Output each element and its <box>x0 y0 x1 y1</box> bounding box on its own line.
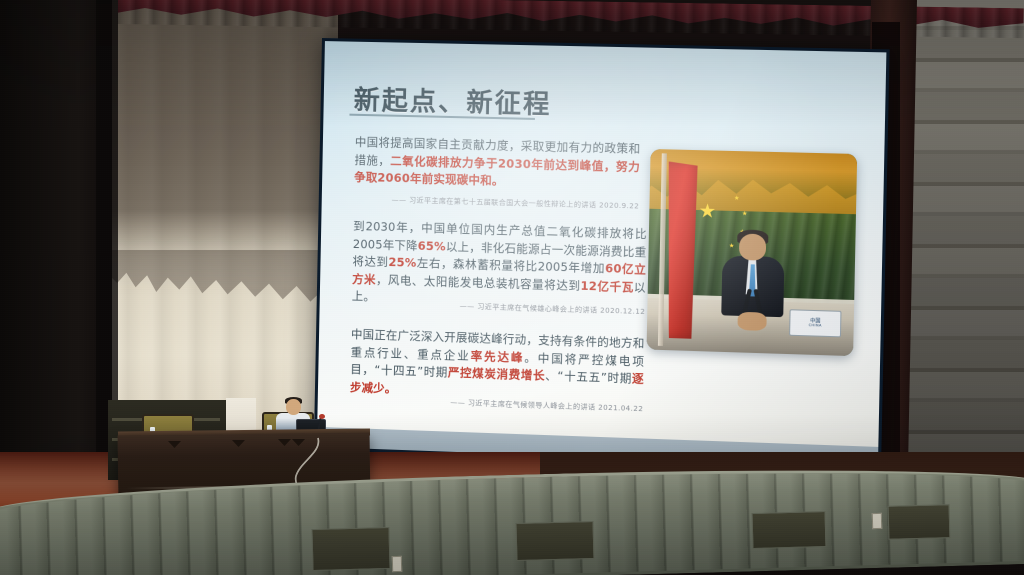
slide-paragraph-1: 中国将提高国家自主贡献力度，采取更加有力的政策和措施，二氧化碳排放力争于2030… <box>354 134 641 194</box>
flag-star-1: ★ <box>734 195 740 201</box>
slide-highlighted-text: 25% <box>388 255 416 270</box>
slide-photo: ★ ★ ★ ★ ★ 中国 CHINA <box>647 149 858 356</box>
slide-highlighted-text: 65% <box>418 238 446 253</box>
barrier-switch-plate-2 <box>872 513 882 529</box>
backdrop-upper-shadow <box>108 0 338 300</box>
microphone-head <box>319 414 325 419</box>
flag-star-4: ★ <box>729 243 735 249</box>
nameplate-label-en: CHINA <box>809 324 822 328</box>
slide-body-text: 左右，森林蓄积量将比2005年增加 <box>416 256 605 276</box>
slide-highlighted-text: 严控煤炭消费增长 <box>448 365 546 382</box>
projection-screen: 新起点、新征程 中国将提高国家自主贡献力度，采取更加有力的政策和措施，二氧化碳排… <box>314 38 890 471</box>
presentation-slide: 新起点、新征程 中国将提高国家自主贡献力度，采取更加有力的政策和措施，二氧化碳排… <box>317 41 887 467</box>
slide-highlighted-text: 12亿千瓦 <box>580 278 634 294</box>
slide-body-text: ，风电、太阳能发电总装机容量将达到 <box>376 272 581 292</box>
barrier-panel-3 <box>752 511 827 549</box>
barrier-panel-1 <box>311 527 390 571</box>
slide-highlighted-text: 二氧化碳排放力争于2030年前达到峰值，努力争取2060年前实现碳中和。 <box>354 153 640 188</box>
flag-star-2: ★ <box>742 212 748 218</box>
right-wall-shading <box>900 0 1024 520</box>
barrier-panel-4 <box>888 504 951 540</box>
photo-speaker-hands <box>737 312 766 331</box>
slide-citation-1: —— 习近平主席在第七十五届联合国大会一般性辩论上的讲话 2020.9.22 <box>354 194 640 212</box>
slide-highlighted-text: 率先达峰 <box>471 348 525 364</box>
barrier-panel-2 <box>516 521 595 561</box>
flag-star-large: ★ <box>698 202 716 222</box>
slide-body-text: 、“十五五”时期 <box>545 368 632 385</box>
screen-frame: 新起点、新征程 中国将提高国家自主贡献力度，采取更加有力的政策和措施，二氧化碳排… <box>314 38 890 471</box>
slide-paragraph-3: 中国正在广泛深入开展碳达峰行动，支持有条件的地方和重点行业、重点企业率先达峰。中… <box>350 326 645 406</box>
photo-speaker-head <box>739 234 766 261</box>
country-nameplate: 中国 CHINA <box>789 310 841 338</box>
presenter-head <box>286 399 301 415</box>
barrier-switch-plate-1 <box>392 556 402 572</box>
screenshot-root: 新起点、新征程 中国将提高国家自主贡献力度，采取更加有力的政策和措施，二氧化碳排… <box>0 0 1024 575</box>
